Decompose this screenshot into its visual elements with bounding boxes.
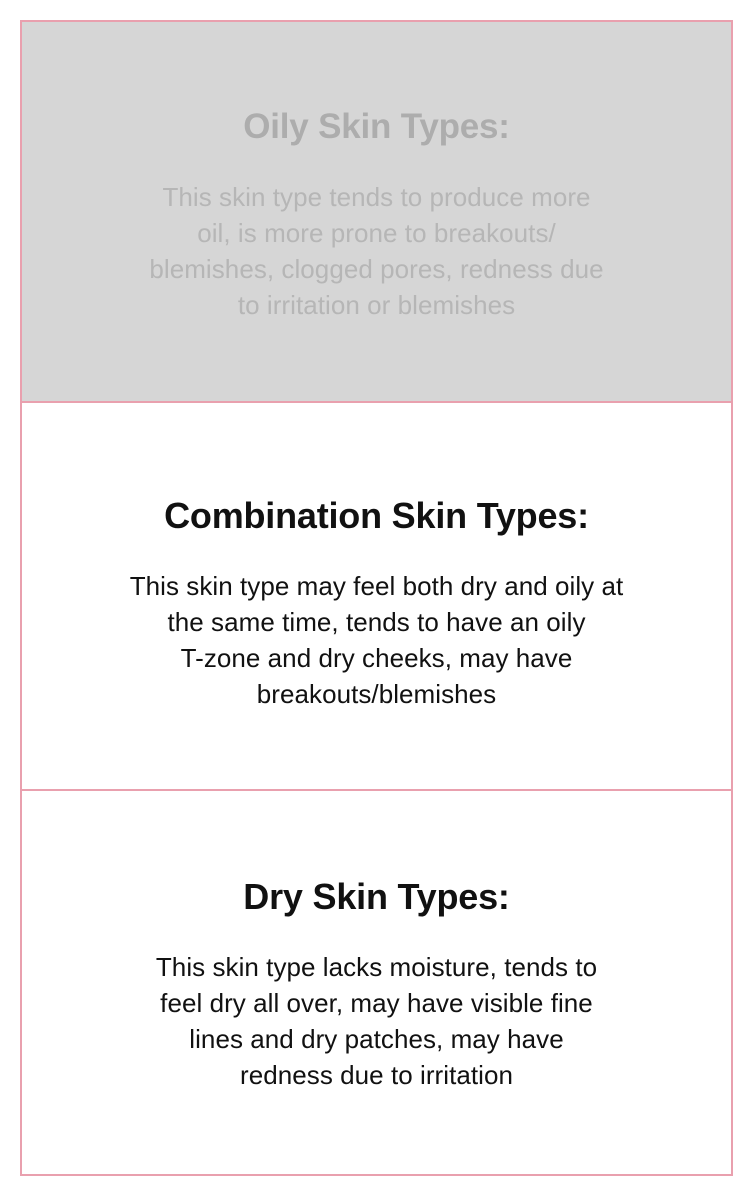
combination-skin-description: This skin type may feel both dry and oil… — [74, 569, 680, 713]
oily-skin-description-line: oil, is more prone to breakouts/ — [101, 216, 653, 252]
combination-skin-description-line: the same time, tends to have an oily — [74, 605, 680, 641]
dry-skin-description-line: feel dry all over, may have visible fine — [95, 986, 659, 1022]
dry-skin-heading: Dry Skin Types: — [243, 876, 509, 917]
combination-skin-description-line: T-zone and dry cheeks, may have — [74, 641, 680, 677]
skin-type-option-oily[interactable]: Oily Skin Types: This skin type tends to… — [22, 22, 731, 403]
combination-skin-description-line: This skin type may feel both dry and oil… — [74, 569, 680, 605]
skin-type-selector-card: Oily Skin Types: This skin type tends to… — [20, 20, 733, 1176]
dry-skin-description-line: This skin type lacks moisture, tends to — [95, 950, 659, 986]
oily-skin-description: This skin type tends to produce more oil… — [101, 180, 653, 324]
combination-skin-heading: Combination Skin Types: — [164, 495, 589, 536]
skin-type-option-dry[interactable]: Dry Skin Types: This skin type lacks moi… — [22, 791, 731, 1174]
skin-type-option-combination[interactable]: Combination Skin Types: This skin type m… — [22, 403, 731, 791]
oily-skin-description-line: to irritation or blemishes — [101, 288, 653, 324]
oily-skin-heading: Oily Skin Types: — [243, 107, 510, 147]
dry-skin-description: This skin type lacks moisture, tends to … — [95, 950, 659, 1094]
combination-skin-description-line: breakouts/blemishes — [74, 677, 680, 713]
dry-skin-description-line: redness due to irritation — [95, 1058, 659, 1094]
dry-skin-description-line: lines and dry patches, may have — [95, 1022, 659, 1058]
oily-skin-description-line: blemishes, clogged pores, redness due — [101, 252, 653, 288]
oily-skin-description-line: This skin type tends to produce more — [101, 180, 653, 216]
